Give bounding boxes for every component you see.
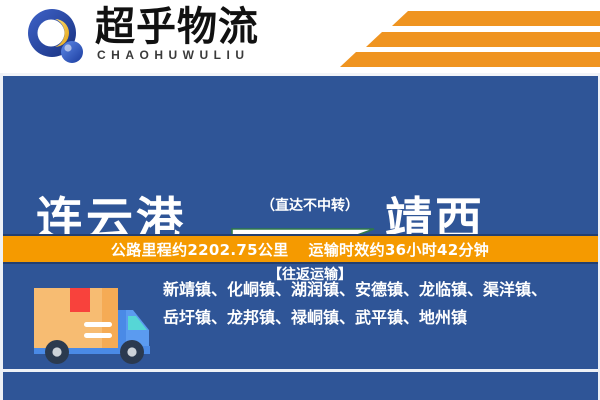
direct-route-note: （直达不中转） bbox=[244, 195, 376, 215]
route-section: 连云港 （直达不中转） 【往返运输】 靖西 bbox=[0, 76, 600, 232]
duration-text: 运输时效约36小时42分钟 bbox=[308, 239, 489, 260]
circle-crescent-logo-icon bbox=[27, 8, 87, 66]
left-edge-border bbox=[0, 73, 3, 400]
delivery-truck-icon bbox=[28, 276, 154, 368]
stripe-3 bbox=[340, 52, 600, 67]
route-info-bar: 公路里程约2202.75公里 运输时效约36小时42分钟 bbox=[0, 234, 600, 264]
header-bar: 超乎物流 CHAOHUWULIU bbox=[0, 0, 600, 73]
logistics-route-banner: 超乎物流 CHAOHUWULIU 连云港 （直达不中转） 【往返运输】 靖西 公… bbox=[0, 0, 600, 400]
brand-name-en: CHAOHUWULIU bbox=[97, 48, 250, 62]
speed-stripes-icon bbox=[330, 0, 600, 73]
bottom-divider bbox=[0, 369, 600, 372]
towns-line-2: 岳圩镇、龙邦镇、禄峒镇、武平镇、地州镇 bbox=[163, 304, 587, 332]
towns-line-1: 新靖镇、化峒镇、湖润镇、安德镇、龙临镇、渠洋镇、 bbox=[163, 276, 587, 304]
stripe-2 bbox=[366, 32, 600, 47]
stripe-1 bbox=[392, 11, 600, 26]
brand-name-cn: 超乎物流 bbox=[95, 5, 259, 49]
covered-towns-list: 新靖镇、化峒镇、湖润镇、安德镇、龙临镇、渠洋镇、 岳圩镇、龙邦镇、禄峒镇、武平镇… bbox=[163, 276, 587, 332]
distance-text: 公路里程约2202.75公里 bbox=[111, 239, 289, 260]
